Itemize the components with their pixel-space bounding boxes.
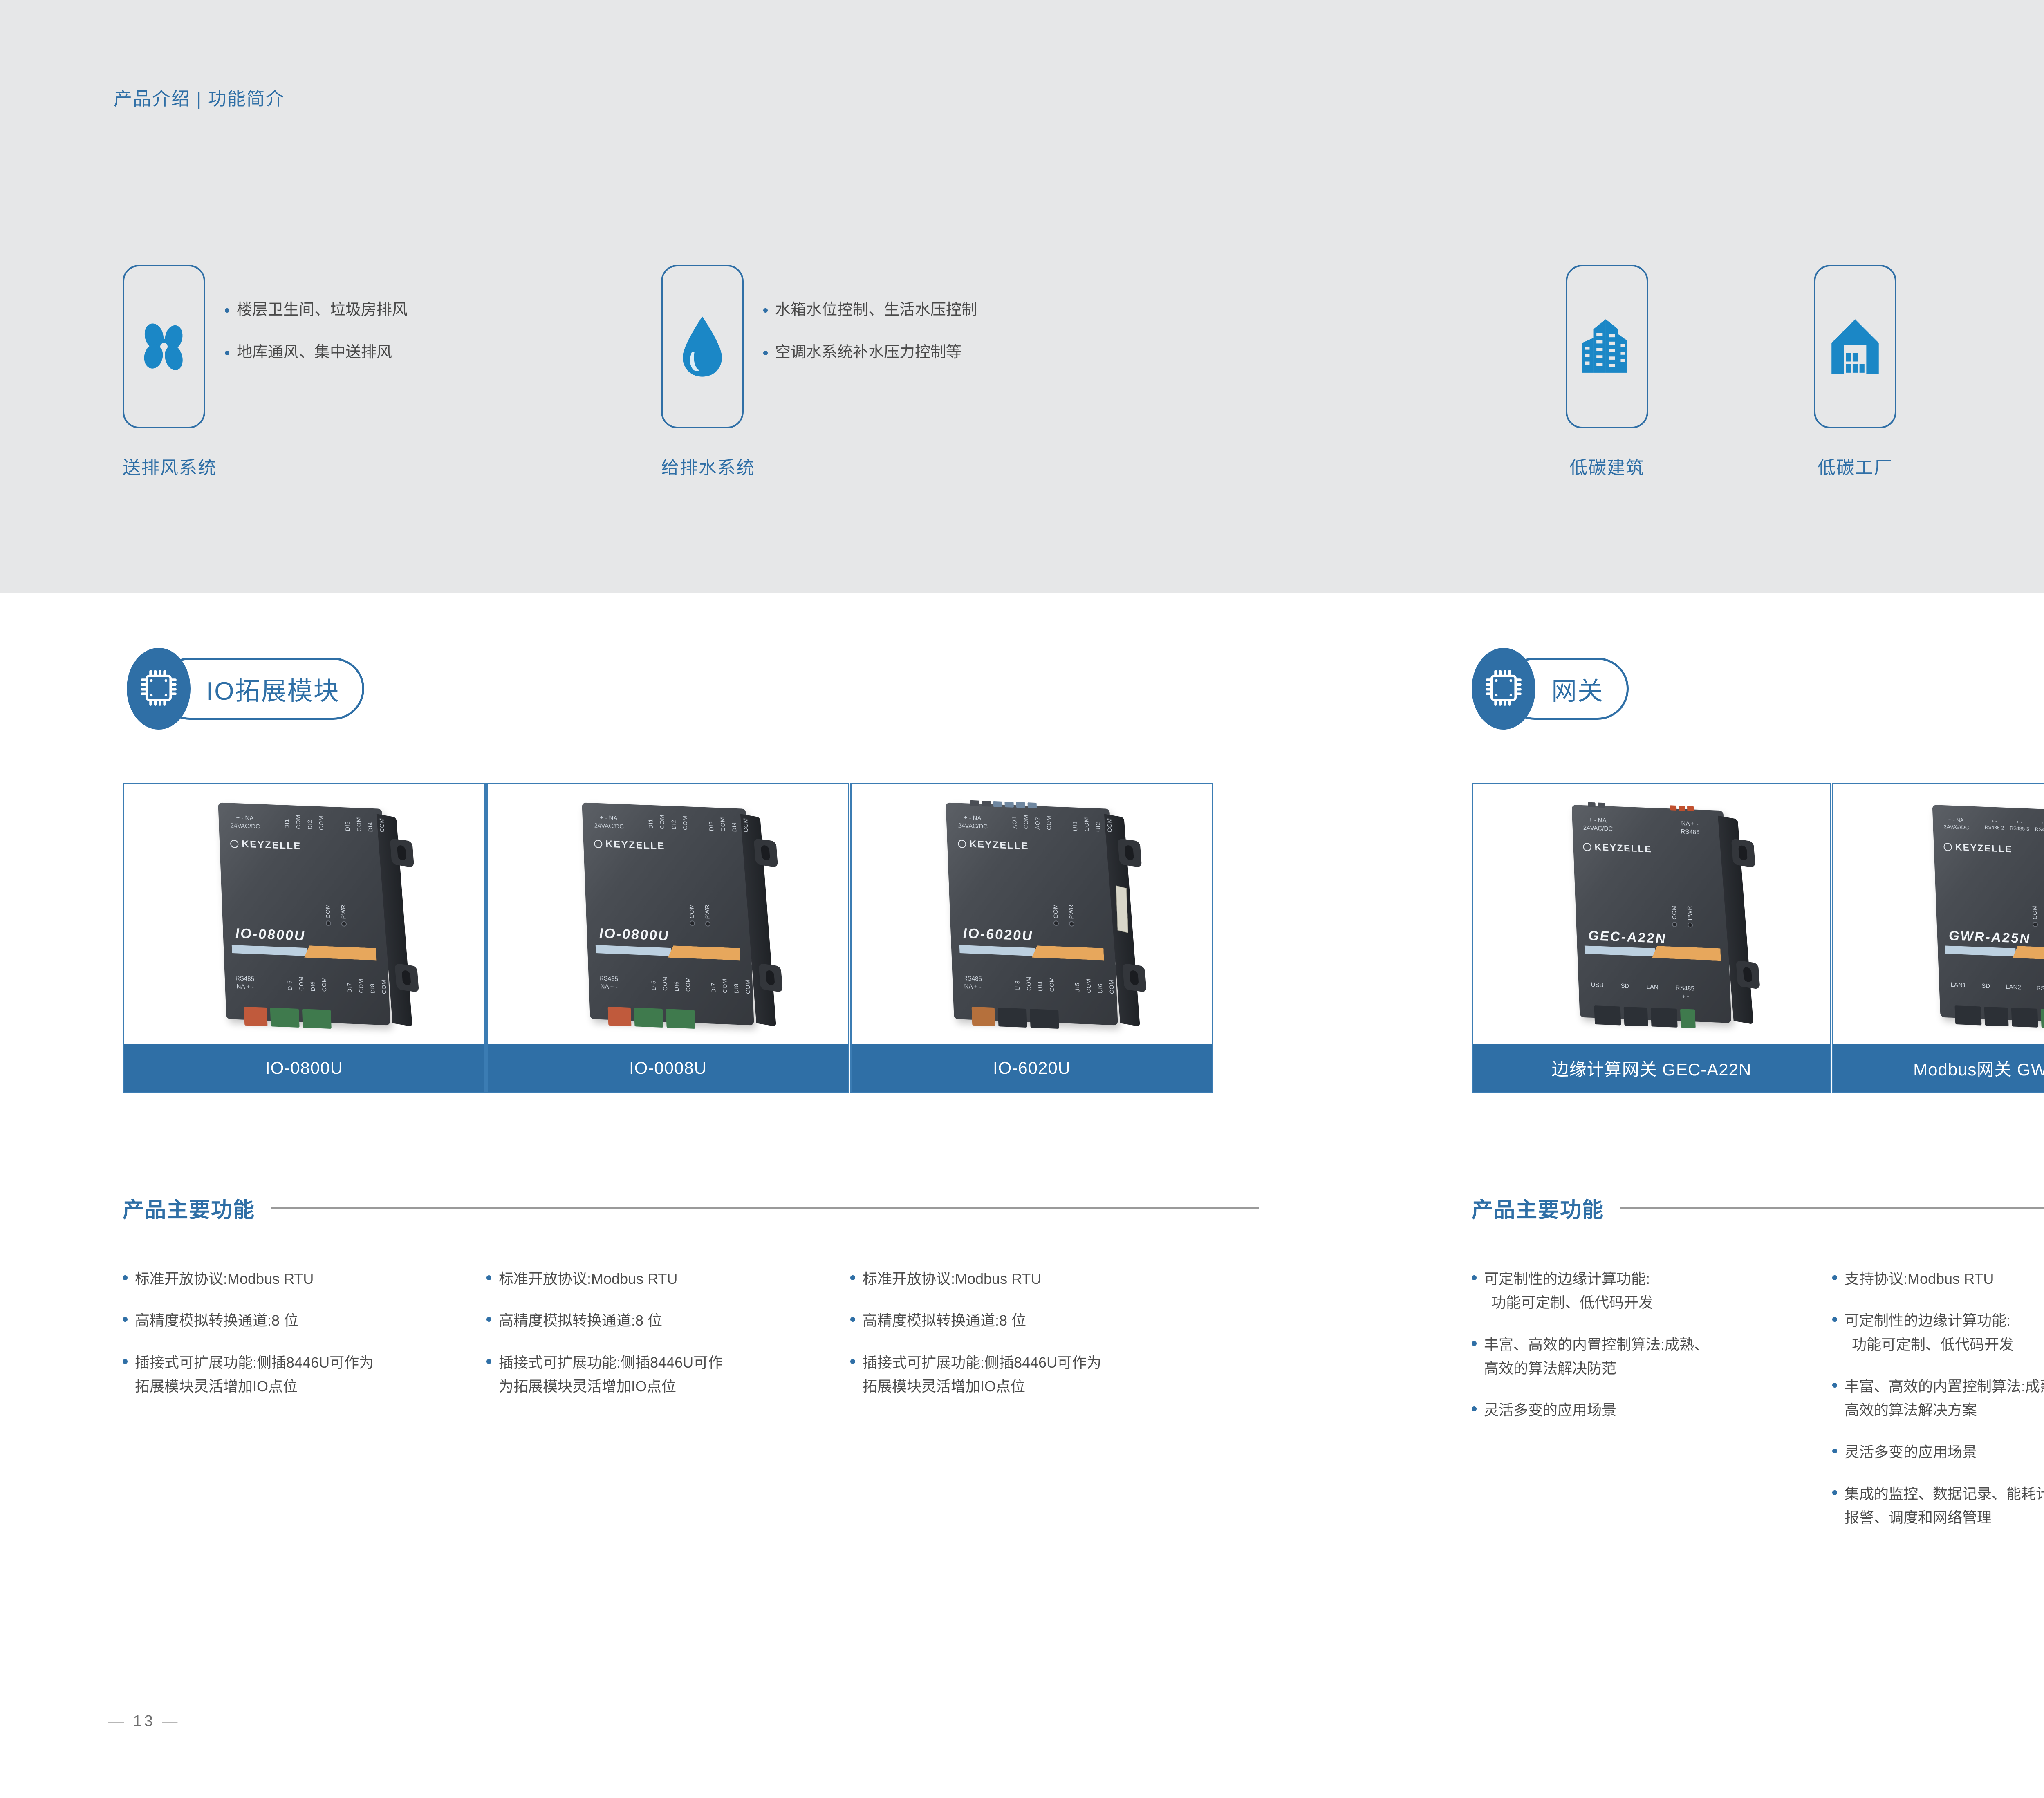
- device-brand: KEYZELLE: [958, 838, 1029, 852]
- device-top-connector-strip: [1588, 802, 1605, 808]
- feature-column-io-6020u: 标准开放协议:Modbus RTU 高精度模拟转换通道:8 位 插接式可扩展功能…: [850, 1267, 1210, 1416]
- device-connectors: [1954, 1005, 2044, 1028]
- device-power-sub: 24VAC/DC: [958, 822, 988, 831]
- application-fan-caption: 送排风系统: [123, 453, 217, 479]
- terminal-label: UI5: [1074, 978, 1080, 993]
- product-card-label: IO-0800U: [124, 1044, 484, 1092]
- device-power-sub: 2AVAV/DC: [1943, 824, 1969, 831]
- feature-text: 报警、调度和网络管理: [1845, 1506, 2044, 1529]
- device-bottom-ports: USB SD LAN RS485 + -: [1591, 981, 1695, 1001]
- terminal-label: COM: [355, 817, 362, 831]
- terminal-label: DI7: [346, 978, 353, 993]
- chip-icon-badge: [1472, 648, 1535, 730]
- office-building-icon-frame: [1566, 265, 1648, 428]
- terminal-label: DI1: [283, 814, 290, 829]
- feature-text: 拓展模块灵活增加IO点位: [135, 1375, 374, 1398]
- page-number-left: — 13 —: [108, 1713, 180, 1730]
- bullet-dot-icon: [1832, 1275, 1837, 1280]
- terminal-label: DI6: [309, 976, 316, 991]
- device-leds: COM PWR: [2031, 905, 2044, 928]
- device-top-connector-strip: [970, 800, 1037, 808]
- feature-column-io-0008u: 标准开放协议:Modbus RTU 高精度模拟转换通道:8 位 插接式可扩展功能…: [486, 1267, 846, 1416]
- terminal-label: COM: [378, 817, 385, 832]
- chip-icon: [1482, 667, 1525, 711]
- bullet-dot-icon: [486, 1359, 491, 1364]
- bullet-dot-icon: [225, 351, 229, 355]
- feature-text: 支持协议:Modbus RTU: [1845, 1267, 1994, 1291]
- feature-text: 拓展模块灵活增加IO点位: [863, 1375, 1101, 1398]
- bullet-text: 空调水系统补水压力控制等: [775, 343, 961, 362]
- device-power-sub: 24VAC/DC: [230, 822, 260, 831]
- device-top-red-terminals: [1670, 805, 1694, 811]
- terminal-label: COM: [298, 976, 305, 991]
- terminal-label: COM: [1083, 817, 1090, 831]
- features-head-right: 产品主要功能: [1472, 1193, 2044, 1223]
- terminal-label: DI2: [670, 815, 677, 830]
- water-drop-icon: [675, 314, 729, 379]
- product-image-io-0800u: + - NA 24VAC/DC DI1 COM DI2 COM DI3 COM …: [124, 784, 484, 1044]
- port-label: RS485-1: [2037, 985, 2044, 992]
- feature-text: 标准开放协议:Modbus RTU: [135, 1267, 314, 1291]
- bullet-text: 水箱水位控制、生活水压控制: [775, 301, 977, 320]
- product-card-label: IO-0008U: [488, 1044, 848, 1092]
- terminal-label: COM: [295, 815, 302, 829]
- terminal-label: AO1: [1011, 814, 1018, 829]
- bullet-dot-icon: [486, 1275, 491, 1280]
- device-connectors: [608, 1007, 695, 1029]
- device-leds: COM PWR: [1052, 904, 1075, 927]
- product-card-io-6020u[interactable]: + - NA 24VAC/DC AO1 COM AO2 COM UI1 COM …: [850, 783, 1213, 1093]
- bullet-dot-icon: [1832, 1490, 1837, 1495]
- device-brand: KEYZELLE: [230, 838, 302, 852]
- terminal-label: DI8: [369, 979, 376, 994]
- running-head-left: 产品介绍 | 功能简介: [114, 84, 285, 110]
- feature-item: 标准开放协议:Modbus RTU: [486, 1267, 846, 1291]
- top-gray-band: [0, 0, 2044, 593]
- led-label: COM: [2031, 905, 2038, 920]
- device-model: IO-0800U: [235, 925, 306, 944]
- application-water: 给排水系统 水箱水位控制、生活水压控制 空调水系统补水压力控制等: [661, 265, 755, 479]
- led-label: PWR: [704, 904, 710, 919]
- device-model: IO-0800U: [599, 925, 670, 944]
- terminal-label: COM: [721, 978, 728, 993]
- terminal-label: COM: [661, 976, 668, 991]
- device-power-label: + - NA: [1948, 817, 1964, 823]
- device-rs485-sub: NA + -: [236, 983, 254, 991]
- product-card-gwr-a25n[interactable]: + - NA 2AVAV/DC + -RS485-2 + -RS485-3 + …: [1832, 783, 2044, 1093]
- terminal-label: COM: [1108, 979, 1115, 994]
- application-low-carbon-building-caption: 低碳建筑: [1566, 453, 1648, 479]
- feature-text: 插接式可扩展功能:侧插8446U可作: [499, 1351, 723, 1375]
- device-power-label: + - NA: [964, 814, 982, 822]
- terminal-label: DI8: [733, 979, 740, 994]
- terminal-label: DI4: [367, 817, 374, 832]
- device-top-terminals: AO1 COM AO2 COM UI1 COM UI2 COM: [1011, 814, 1113, 833]
- features-rule: [1620, 1207, 2044, 1209]
- terminal-label: COM: [357, 978, 364, 993]
- terminal-label: DI5: [650, 976, 657, 990]
- device-rs485-label: NA + -: [1681, 820, 1699, 828]
- feature-item: 高精度模拟转换通道:8 位: [850, 1309, 1210, 1332]
- features-title: 产品主要功能: [1472, 1193, 1604, 1223]
- port-sub-label: + -: [1681, 993, 1689, 1001]
- bullet-text: 地库通风、集中送排风: [237, 343, 392, 362]
- application-low-carbon-building: 低碳建筑: [1566, 265, 1648, 479]
- device-brand: KEYZELLE: [1943, 841, 2013, 855]
- device-connectors: [1594, 1005, 1695, 1028]
- port-label: LAN1: [1950, 981, 1966, 997]
- device-power-label: + - NA: [600, 814, 618, 822]
- bullet-item: 地库通风、集中送排风: [225, 343, 408, 362]
- application-fan: 送排风系统 楼层卫生间、垃圾房排风 地库通风、集中送排风: [123, 265, 217, 479]
- port-label: SD: [1620, 982, 1629, 999]
- section-title-text: 网关: [1551, 670, 1604, 707]
- terminal-label: COM: [744, 979, 751, 994]
- bullet-dot-icon: [1832, 1317, 1837, 1322]
- feature-item: 支持协议:Modbus RTU: [1832, 1267, 2044, 1291]
- feature-item: 插接式可扩展功能:侧插8446U可作 为拓展模块灵活增加IO点位: [486, 1351, 846, 1399]
- bullet-dot-icon: [123, 1275, 128, 1280]
- feature-text: 集成的监控、数据记录、能耗计量、: [1845, 1482, 2044, 1506]
- bullet-dot-icon: [850, 1275, 855, 1280]
- terminal-label: COM: [681, 815, 688, 830]
- keyzelle-logo-icon: [1943, 842, 1952, 851]
- device-bottom-terminals: DI5 COM DI6 COM DI7 COM DI8 COM: [286, 976, 388, 994]
- terminal-label: DI6: [673, 976, 680, 991]
- device-rs485-sub: RS485: [1681, 828, 1700, 836]
- application-water-caption: 给排水系统: [661, 453, 755, 479]
- bullet-dot-icon: [763, 351, 768, 355]
- fan-icon: [133, 316, 195, 377]
- feature-text: 丰富、高效的内置控制算法:成熟、: [1484, 1333, 1709, 1357]
- terminal-label: UI2: [1094, 817, 1101, 832]
- terminal-label: UI1: [1071, 816, 1078, 831]
- led-label: PWR: [1686, 905, 1693, 920]
- office-building-icon: [1577, 316, 1637, 378]
- device-model: GEC-A22N: [1588, 928, 1667, 946]
- chip-icon-badge: [127, 648, 191, 730]
- terminal-label: COM: [1106, 817, 1113, 832]
- feature-text: 可定制性的边缘计算功能:: [1845, 1309, 2014, 1332]
- port-label: SD: [1981, 982, 1990, 998]
- water-icon-frame: [661, 265, 744, 428]
- bullet-dot-icon: [1472, 1341, 1477, 1346]
- device-power-label: + - NA: [1589, 817, 1607, 824]
- terminal-label: DI5: [286, 976, 293, 990]
- feature-item: 标准开放协议:Modbus RTU: [850, 1267, 1210, 1291]
- feature-text: 高精度模拟转换通道:8 位: [863, 1309, 1026, 1332]
- feature-text: 插接式可扩展功能:侧插8446U可作为: [135, 1351, 374, 1375]
- terminal-label: COM: [318, 815, 325, 830]
- terminal-label: COM: [684, 977, 691, 992]
- section-title-text: IO拓展模块: [206, 670, 339, 707]
- port-label: LAN: [1646, 983, 1659, 1000]
- bus-label: RS485-4: [2035, 826, 2044, 833]
- application-low-carbon-factory: 低碳工厂: [1814, 265, 1896, 479]
- feature-text: 灵活多变的应用场景: [1484, 1398, 1616, 1422]
- keyzelle-logo-icon: [958, 840, 966, 848]
- terminal-label: COM: [659, 815, 666, 829]
- feature-text: 高精度模拟转换通道:8 位: [135, 1309, 298, 1332]
- bus-label: RS485-2: [1985, 824, 2004, 831]
- chip-icon: [137, 667, 180, 711]
- application-water-bullets: 水箱水位控制、生活水压控制 空调水系统补水压力控制等: [763, 301, 977, 385]
- terminal-label: COM: [1022, 815, 1029, 829]
- bullet-dot-icon: [123, 1359, 128, 1364]
- product-card-label: Modbus网关 GWR-A25N: [1833, 1044, 2044, 1092]
- device-top-terminals: DI1 COM DI2 COM DI3 COM DI4 COM: [647, 814, 749, 833]
- feature-item: 可定制性的边缘计算功能: 功能可定制、低代码开发: [1832, 1309, 2044, 1357]
- bullet-item: 水箱水位控制、生活水压控制: [763, 301, 977, 320]
- device-connectors: [244, 1007, 332, 1029]
- product-image-gwr-a25n: + - NA 2AVAV/DC + -RS485-2 + -RS485-3 + …: [1833, 784, 2044, 1044]
- application-low-carbon-factory-caption: 低碳工厂: [1814, 453, 1896, 479]
- product-image-gec-a22n: + - NA 24VAC/DC NA + - RS485 KEYZELLE CO…: [1473, 784, 1830, 1044]
- factory-icon: [1828, 316, 1883, 378]
- terminal-label: COM: [1025, 976, 1032, 991]
- device-rs485-label: RS485: [963, 975, 982, 983]
- terminal-label: COM: [1048, 977, 1055, 992]
- bullet-dot-icon: [850, 1359, 855, 1364]
- bullet-dot-icon: [1472, 1275, 1477, 1280]
- device-rs485-sub: NA + -: [964, 983, 982, 991]
- bullet-dot-icon: [225, 308, 229, 313]
- feature-item: 高精度模拟转换通道:8 位: [486, 1309, 846, 1332]
- application-fan-bullets: 楼层卫生间、垃圾房排风 地库通风、集中送排风: [225, 301, 408, 385]
- terminal-label: DI3: [708, 816, 715, 831]
- product-image-io-0008u: + - NA 24VAC/DC DI1 COM DI2 COM DI3 COM …: [488, 784, 848, 1044]
- feature-item: 丰富、高效的内置控制算法:成熟、 高效的算法解决防范: [1472, 1333, 1823, 1381]
- device-top-buses: + -RS485-2 + -RS485-3 + -RS485-4 + -RA48…: [1984, 817, 2044, 834]
- feature-column-io-0800u: 标准开放协议:Modbus RTU 高精度模拟转换通道:8 位 插接式可扩展功能…: [123, 1267, 482, 1416]
- features-rule: [271, 1207, 1259, 1209]
- device-connectors: [972, 1007, 1059, 1029]
- features-title: 产品主要功能: [123, 1193, 255, 1223]
- device-rs485-label: RS485: [599, 975, 619, 983]
- feature-item: 可定制性的边缘计算功能: 功能可定制、低代码开发: [1472, 1267, 1823, 1315]
- device-power-sub: 24VAC/DC: [594, 822, 624, 831]
- bullet-dot-icon: [1832, 1383, 1837, 1388]
- terminal-label: UI3: [1014, 976, 1021, 990]
- keyzelle-logo-icon: [1583, 842, 1591, 851]
- terminal-label: COM: [719, 817, 726, 831]
- terminal-label: DI7: [710, 978, 717, 993]
- led-label: COM: [688, 904, 695, 918]
- feature-text: 可定制性的边缘计算功能:: [1484, 1267, 1653, 1291]
- port-label: LAN2: [2006, 983, 2022, 999]
- feature-text: 高效的算法解决方案: [1845, 1398, 2044, 1422]
- port-label: USB: [1591, 981, 1604, 998]
- device-brand: KEYZELLE: [594, 838, 666, 852]
- feature-text: 为拓展模块灵活增加IO点位: [499, 1375, 723, 1398]
- feature-item: 标准开放协议:Modbus RTU: [123, 1267, 482, 1291]
- device-bottom-terminals: UI3 COM UI4 COM UI5 COM UI6 COM: [1014, 976, 1115, 994]
- bullet-dot-icon: [850, 1317, 855, 1322]
- device-rs485-label: RS485: [235, 975, 255, 983]
- bullet-text: 楼层卫生间、垃圾房排风: [237, 301, 408, 320]
- keyzelle-logo-icon: [594, 840, 603, 848]
- feature-text: 高精度模拟转换通道:8 位: [499, 1309, 662, 1332]
- feature-item: 丰富、高效的内置控制算法:成熟、 高效的算法解决方案: [1832, 1375, 2044, 1422]
- feature-item: 集成的监控、数据记录、能耗计量、 报警、调度和网络管理: [1832, 1482, 2044, 1530]
- led-label: PWR: [1067, 904, 1074, 919]
- product-card-label: IO-6020U: [852, 1044, 1212, 1092]
- terminal-label: DI1: [647, 814, 654, 829]
- bullet-dot-icon: [763, 308, 768, 313]
- bus-label: RS485-3: [2010, 825, 2029, 832]
- terminal-label: UI4: [1037, 976, 1044, 991]
- feature-text: 插接式可扩展功能:侧插8446U可作为: [863, 1351, 1101, 1375]
- device-side-module: [1116, 885, 1128, 933]
- terminal-label: DI2: [306, 815, 313, 830]
- device-model: IO-6020U: [963, 925, 1033, 944]
- features-head-left: 产品主要功能: [123, 1193, 1259, 1223]
- product-image-io-6020u: + - NA 24VAC/DC AO1 COM AO2 COM UI1 COM …: [852, 784, 1212, 1044]
- section-head-gateways: 网关: [1472, 648, 1629, 730]
- bullet-dot-icon: [123, 1317, 128, 1322]
- device-leds: COM PWR: [1670, 905, 1693, 928]
- terminal-label: DI3: [344, 816, 351, 831]
- terminal-label: COM: [380, 979, 387, 994]
- feature-item: 插接式可扩展功能:侧插8446U可作为 拓展模块灵活增加IO点位: [850, 1351, 1210, 1399]
- terminal-label: UI6: [1096, 979, 1103, 994]
- bullet-item: 空调水系统补水压力控制等: [763, 343, 977, 362]
- feature-item: 灵活多变的应用场景: [1472, 1398, 1823, 1422]
- bullet-dot-icon: [486, 1317, 491, 1322]
- bullet-dot-icon: [1472, 1406, 1477, 1411]
- product-card-io-0800u[interactable]: + - NA 24VAC/DC DI1 COM DI2 COM DI3 COM …: [123, 783, 486, 1093]
- terminal-label: COM: [742, 817, 749, 832]
- product-card-label: 边缘计算网关 GEC-A22N: [1473, 1044, 1830, 1092]
- feature-text: 标准开放协议:Modbus RTU: [863, 1267, 1041, 1291]
- fan-icon-frame: [123, 265, 205, 428]
- bullet-dot-icon: [1832, 1449, 1837, 1453]
- feature-text: 功能可定制、低代码开发: [1484, 1291, 1653, 1314]
- feature-text: 功能可定制、低代码开发: [1845, 1333, 2014, 1357]
- feature-text: 高效的算法解决防范: [1484, 1357, 1709, 1380]
- factory-icon-frame: [1814, 265, 1896, 428]
- device-power-label: + - NA: [236, 814, 254, 822]
- device-brand: KEYZELLE: [1583, 841, 1652, 855]
- device-model: GWR-A25N: [1948, 928, 2031, 947]
- product-card-gec-a22n[interactable]: + - NA 24VAC/DC NA + - RS485 KEYZELLE CO…: [1472, 783, 1831, 1093]
- led-label: PWR: [340, 904, 347, 919]
- feature-column-gwr-a25n: 支持协议:Modbus RTU 可定制性的边缘计算功能: 功能可定制、低代码开发…: [1832, 1267, 2044, 1548]
- terminal-label: AO2: [1034, 815, 1041, 830]
- device-leds: COM PWR: [324, 904, 347, 927]
- feature-text: 灵活多变的应用场景: [1845, 1440, 1977, 1464]
- terminal-label: COM: [1045, 815, 1052, 830]
- feature-item: 灵活多变的应用场景: [1832, 1440, 2044, 1464]
- section-head-io-modules: IO拓展模块: [127, 648, 364, 730]
- device-bottom-ports: LAN1 SD LAN2 RS485-1 + -: [1950, 981, 2044, 1001]
- terminal-label: COM: [320, 977, 327, 992]
- keyzelle-logo-icon: [230, 840, 239, 848]
- feature-item: 高精度模拟转换通道:8 位: [123, 1309, 482, 1332]
- product-card-io-0008u[interactable]: + - NA 24VAC/DC DI1 COM DI2 COM DI3 COM …: [486, 783, 849, 1093]
- feature-text: 标准开放协议:Modbus RTU: [499, 1267, 677, 1291]
- device-rs485-sub: NA + -: [600, 983, 618, 991]
- device-power-sub: 24VAC/DC: [1583, 824, 1613, 833]
- led-label: COM: [1052, 904, 1059, 918]
- feature-item: 插接式可扩展功能:侧插8446U可作为 拓展模块灵活增加IO点位: [123, 1351, 482, 1399]
- terminal-label: COM: [1085, 978, 1092, 993]
- feature-column-gec-a22n: 可定制性的边缘计算功能: 功能可定制、低代码开发 丰富、高效的内置控制算法:成熟…: [1472, 1267, 1823, 1440]
- device-bottom-terminals: DI5 COM DI6 COM DI7 COM DI8 COM: [650, 976, 751, 994]
- bullet-item: 楼层卫生间、垃圾房排风: [225, 301, 408, 320]
- device-top-terminals: DI1 COM DI2 COM DI3 COM DI4 COM: [283, 814, 385, 833]
- device-leds: COM PWR: [688, 904, 711, 927]
- led-label: COM: [324, 904, 331, 918]
- terminal-label: DI4: [731, 817, 737, 832]
- feature-text: 丰富、高效的内置控制算法:成熟、: [1845, 1375, 2044, 1398]
- led-label: COM: [1670, 905, 1677, 920]
- port-label: RS485: [1676, 985, 1695, 992]
